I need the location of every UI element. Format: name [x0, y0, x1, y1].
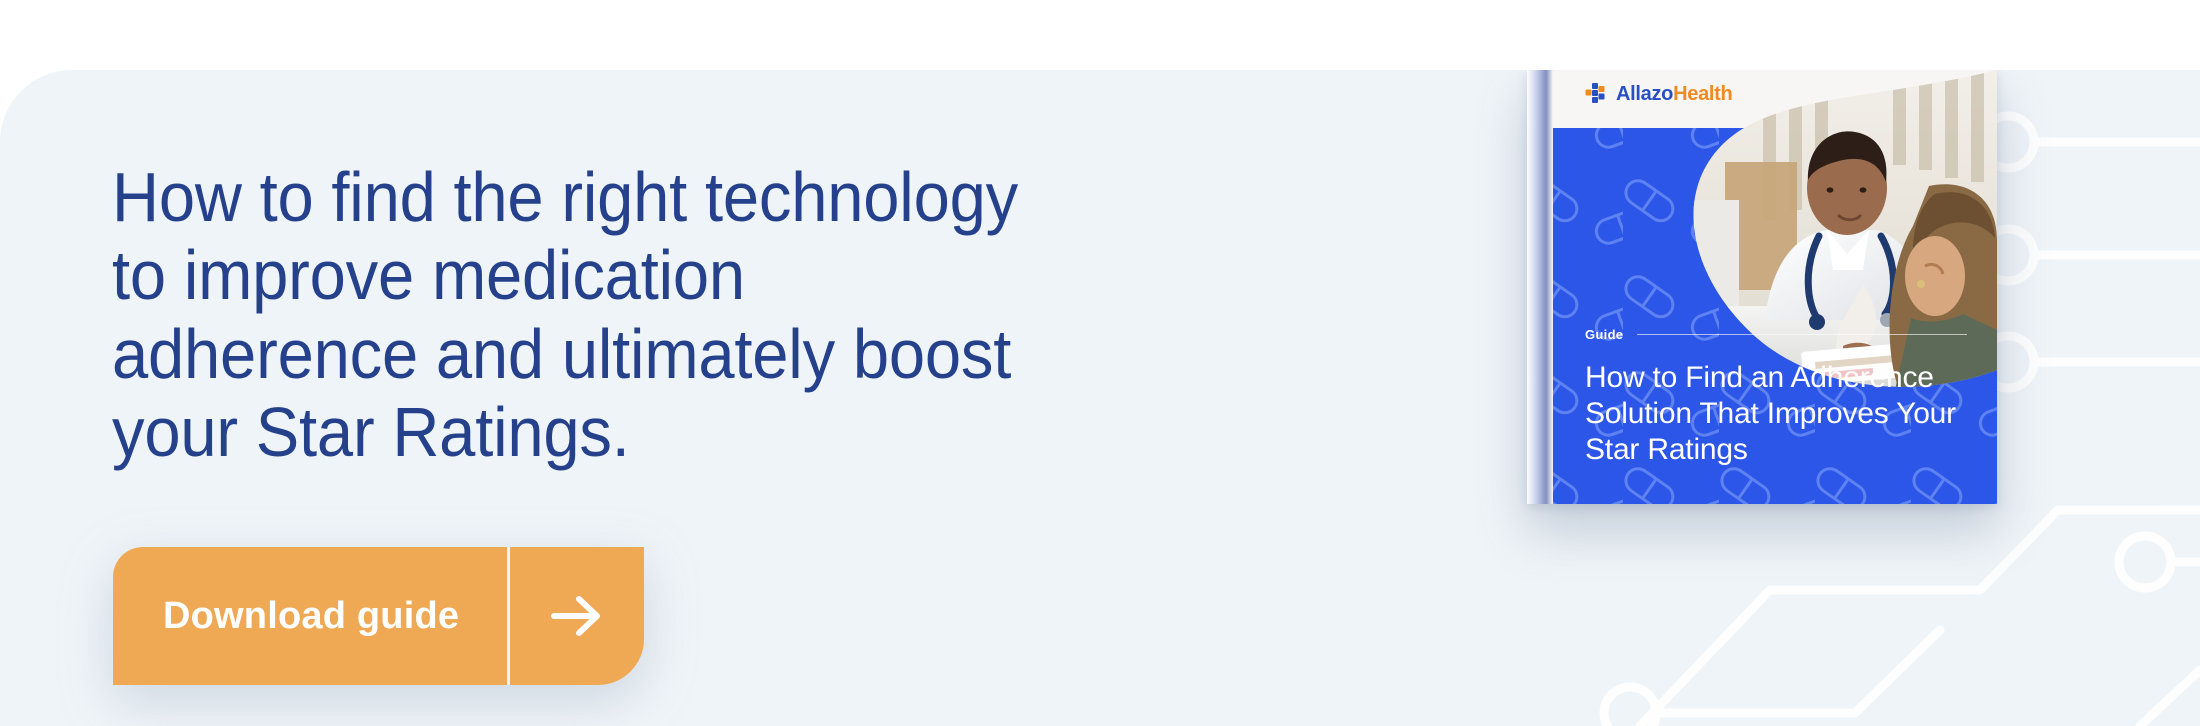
- book-cover-title: How to Find an Adherence Solution That I…: [1585, 360, 1967, 468]
- circuit-node-icon: [2119, 536, 2171, 588]
- cta-card: How to find the right technology to impr…: [0, 70, 2200, 726]
- book-spine-shading: [1527, 70, 1553, 504]
- book-divider-rule: [1637, 334, 1967, 335]
- page-headline: How to find the right technology to impr…: [112, 158, 1042, 472]
- download-guide-label: Download guide: [113, 547, 507, 685]
- copy-block: How to find the right technology to impr…: [112, 158, 1112, 472]
- allazo-health-logo: AllazoHealth: [1583, 82, 1732, 106]
- allazo-health-logo-text: AllazoHealth: [1616, 83, 1732, 106]
- logo-name-secondary: Health: [1673, 83, 1732, 105]
- circuit-node-icon: [1604, 687, 1656, 726]
- download-guide-button[interactable]: Download guide: [113, 547, 644, 685]
- logo-name-primary: Allazo: [1616, 83, 1673, 105]
- allazo-cross-logo-icon: [1583, 82, 1607, 106]
- guide-book-mockup: AllazoHealth Guide How to Find an Adhere…: [1527, 70, 1997, 504]
- book-cover-copy: Guide How to Find an Adherence Solution …: [1585, 327, 1967, 468]
- arrow-right-icon: [507, 547, 644, 685]
- book-eyebrow-row: Guide: [1585, 327, 1967, 342]
- book-eyebrow-label: Guide: [1585, 327, 1623, 342]
